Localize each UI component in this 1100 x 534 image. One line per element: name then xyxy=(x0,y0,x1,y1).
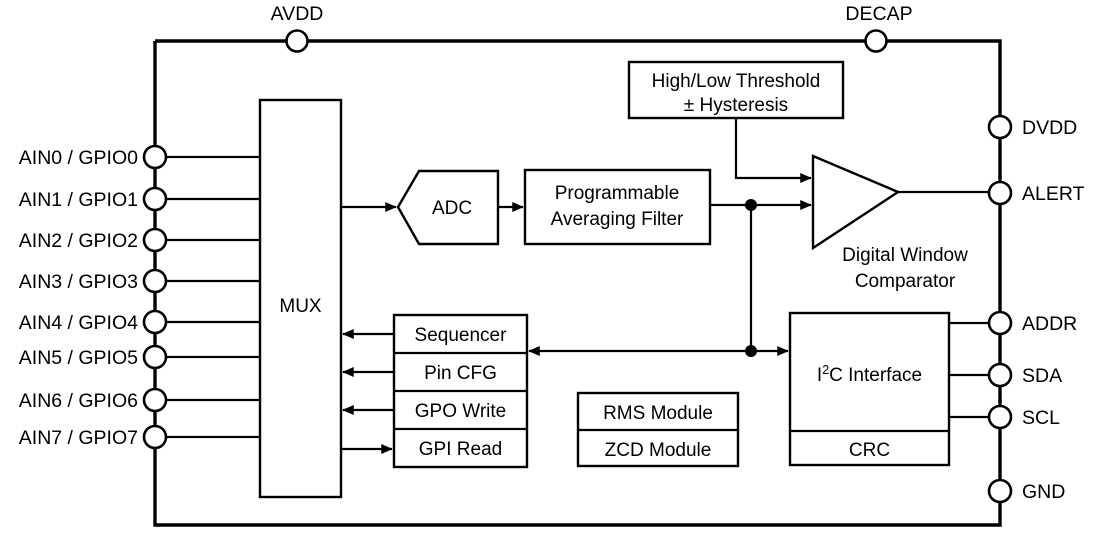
right-pin-sda-label: SDA xyxy=(1022,365,1062,387)
top-pin-decap[interactable]: DECAP xyxy=(845,3,912,52)
right-pin-dvdd[interactable]: DVDD xyxy=(989,116,1077,139)
block-averaging-filter-label-line1: Programmable xyxy=(555,183,680,204)
left-pin-ain1-label: AIN1 / GPIO1 xyxy=(19,189,138,211)
block-sequencer-stack[interactable]: Sequencer Pin CFG GPO Write GPI Read xyxy=(394,315,527,467)
block-i2c-interface[interactable]: I2C Interface CRC xyxy=(790,313,949,465)
right-pin-gnd-label: GND xyxy=(1022,481,1065,503)
top-pin-avdd-label: AVDD xyxy=(271,3,324,25)
block-mux[interactable]: MUX xyxy=(260,100,341,497)
left-pin-ain4[interactable]: AIN4 / GPIO4 xyxy=(19,311,166,334)
block-i2c-interface-label: I2C Interface xyxy=(817,363,922,386)
block-modules-stack[interactable]: RMS Module ZCD Module xyxy=(578,393,738,466)
left-pin-wires xyxy=(155,157,260,437)
block-threshold-label-line2: ± Hysteresis xyxy=(684,95,788,116)
block-rms-module-label: RMS Module xyxy=(603,403,713,424)
block-digital-window-comparator[interactable] xyxy=(813,156,898,248)
block-zcd-module-label: ZCD Module xyxy=(605,440,712,461)
wire-threshold-to-comparator xyxy=(736,118,811,178)
right-pin-sda[interactable]: SDA xyxy=(989,364,1062,387)
block-threshold-label-line1: High/Low Threshold xyxy=(652,71,821,92)
top-pin-decap-label: DECAP xyxy=(845,3,912,25)
block-threshold[interactable]: High/Low Threshold ± Hysteresis xyxy=(629,62,843,118)
right-pin-scl[interactable]: SCL xyxy=(989,406,1060,429)
right-pin-gnd[interactable]: GND xyxy=(989,480,1065,503)
block-averaging-filter-label-line2: Averaging Filter xyxy=(551,209,684,230)
block-mux-label: MUX xyxy=(279,296,322,317)
comparator-caption-line2: Comparator xyxy=(855,271,956,292)
left-pin-ain6-label: AIN6 / GPIO6 xyxy=(19,390,138,412)
block-diagram-canvas: AVDD DECAP AIN0 / GPIO0 AIN1 / GPIO1 xyxy=(0,0,1100,534)
left-pin-ain1[interactable]: AIN1 / GPIO1 xyxy=(19,188,166,211)
block-averaging-filter[interactable]: Programmable Averaging Filter xyxy=(525,170,710,244)
left-pin-ain7[interactable]: AIN7 / GPIO7 xyxy=(19,426,166,449)
right-pin-scl-label: SCL xyxy=(1022,407,1060,429)
left-pin-ain2-label: AIN2 / GPIO2 xyxy=(19,230,138,252)
i2c-label-post: C Interface xyxy=(829,365,922,386)
block-sequencer-label: Sequencer xyxy=(415,325,508,346)
block-pin-cfg-label: Pin CFG xyxy=(424,363,497,384)
block-adc-label: ADC xyxy=(432,198,472,219)
top-pin-avdd[interactable]: AVDD xyxy=(271,3,324,52)
diagram-svg: AVDD DECAP AIN0 / GPIO0 AIN1 / GPIO1 xyxy=(0,0,1100,534)
left-pin-ain7-label: AIN7 / GPIO7 xyxy=(19,427,138,449)
block-gpo-write-label: GPO Write xyxy=(415,401,507,422)
left-pin-ain0[interactable]: AIN0 / GPIO0 xyxy=(19,146,166,169)
left-pin-ain4-label: AIN4 / GPIO4 xyxy=(19,312,138,334)
right-pin-addr-label: ADDR xyxy=(1022,313,1077,335)
left-pin-ain3[interactable]: AIN3 / GPIO3 xyxy=(19,270,166,293)
left-pin-ain5[interactable]: AIN5 / GPIO5 xyxy=(19,346,166,369)
right-pin-dvdd-label: DVDD xyxy=(1022,117,1077,139)
left-pin-ain2[interactable]: AIN2 / GPIO2 xyxy=(19,229,166,252)
junction-dot-upper xyxy=(745,199,757,211)
block-crc-label: CRC xyxy=(849,440,890,461)
comparator-caption-line1: Digital Window xyxy=(842,245,968,266)
left-pin-ain3-label: AIN3 / GPIO3 xyxy=(19,271,138,293)
right-pin-addr[interactable]: ADDR xyxy=(989,312,1077,335)
right-pin-alert[interactable]: ALERT xyxy=(989,182,1085,205)
block-gpi-read-label: GPI Read xyxy=(419,439,502,460)
i2c-label-superscript: 2 xyxy=(822,363,829,377)
block-adc[interactable]: ADC xyxy=(398,171,498,244)
left-pin-ain5-label: AIN5 / GPIO5 xyxy=(19,347,138,369)
left-pin-ain6[interactable]: AIN6 / GPIO6 xyxy=(19,389,166,412)
junction-dot-lower xyxy=(745,345,757,357)
left-pin-ain0-label: AIN0 / GPIO0 xyxy=(19,147,138,169)
right-pin-alert-label: ALERT xyxy=(1022,183,1085,205)
